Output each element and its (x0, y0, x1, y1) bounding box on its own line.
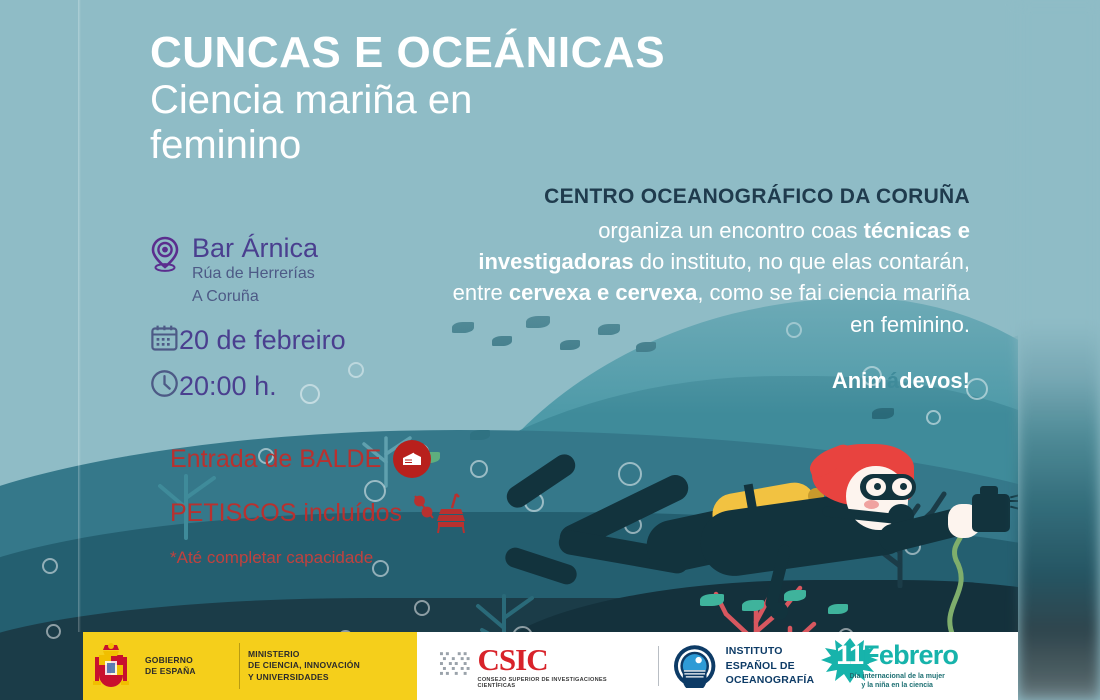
call-to-action: Animádevos! (440, 368, 970, 394)
venue-city: A Coruña (192, 287, 318, 307)
footer-logo-bar: GOBIERNO DE ESPAÑA MINISTERIO DE CIENCIA… (83, 632, 1018, 700)
free-entry-row: Entrada de BALDE (170, 440, 490, 478)
divider (658, 646, 659, 686)
background-blurred-edge (1018, 0, 1100, 700)
divider (239, 643, 240, 689)
ministry-line2: DE CIENCIA, INNOVACIÓN (248, 660, 398, 671)
venue-name: Bar Árnica (192, 234, 318, 262)
gobierno-label: GOBIERNO DE ESPAÑA (139, 655, 231, 677)
ieo-circular-logo-icon (673, 644, 716, 688)
gobierno-line1: GOBIERNO (145, 655, 231, 666)
institution-logos: CSIC CONSEJO SUPERIOR DE INVESTIGACIONES… (417, 632, 1018, 700)
ministry-line3: Y UNIVERSIDADES (248, 672, 398, 683)
gobierno-line2: DE ESPAÑA (145, 666, 231, 677)
ticket-icon (393, 440, 431, 478)
csic-wordmark: CSIC (478, 644, 645, 675)
description-part1: organiza un encontro coas (598, 218, 863, 243)
capacity-note: *Até completar capacidade (170, 548, 490, 568)
event-time: 20:00 h. (179, 371, 277, 402)
csic-logo: CSIC CONSEJO SUPERIOR DE INVESTIGACIONES… (478, 644, 645, 689)
11-febrero-logo: 11Febrero Día internacional de la mujer … (814, 642, 980, 691)
ieo-label: INSTITUTO ESPAÑOL DE OCEANOGRAFÍA (726, 644, 815, 689)
event-date: 20 de febreiro (179, 325, 346, 356)
ieo-line3: OCEANOGRAFÍA (726, 673, 815, 688)
ministry-label: MINISTERIO DE CIENCIA, INNOVACIÓN Y UNIV… (248, 649, 398, 683)
febrero-month: Febrero (863, 640, 958, 670)
cta-accent: á (887, 368, 899, 393)
febrero-subtitle-line1: Día internacional de la mujer (814, 672, 980, 681)
cta-suffix: devos! (899, 368, 970, 393)
location-pin-icon (150, 234, 192, 274)
description-bold2: cervexa e cervexa (509, 280, 697, 305)
ministry-line1: MINISTERIO (248, 649, 398, 660)
organizer-name: CENTRO OCEANOGRÁFICO DA CORUÑA (440, 182, 970, 212)
csic-tagline: CONSEJO SUPERIOR DE INVESTIGACIONES CIEN… (478, 677, 645, 689)
offer-block: Entrada de BALDE PETISCOS incluídos (170, 440, 490, 568)
snacks-label: PETISCOS incluídos (170, 499, 402, 528)
page-title: CUNCAS E OCEÁNICAS (150, 30, 790, 76)
snacks-row: PETISCOS incluídos (170, 492, 490, 534)
febrero-subtitle-line2: y la niña en la ciencia (814, 681, 980, 690)
poster-title-block: CUNCAS E OCEÁNICAS Ciencia mariña en fem… (150, 30, 790, 168)
csic-dot-grid-icon (439, 651, 473, 681)
febrero-subtitle: Día internacional de la mujer y la niña … (814, 672, 980, 691)
poster-canvas: CUNCAS E OCEÁNICAS Ciencia mariña en fem… (0, 0, 1100, 700)
cta-prefix: Anim (832, 368, 887, 393)
description-part3: , como se fai ciencia mariña en feminino… (697, 280, 970, 336)
venue-row: Bar Árnica Rúa de Herrerías A Coruña (150, 234, 450, 307)
calendar-icon (150, 323, 179, 357)
tapas-food-icon (412, 492, 470, 534)
page-subtitle-line1: Ciencia mariña en (150, 78, 790, 123)
spain-coat-of-arms-icon (83, 641, 139, 691)
venue-street: Rúa de Herrerías (192, 264, 318, 284)
febrero-wordmark: 11Febrero (814, 642, 980, 669)
free-entry-label: Entrada de BALDE (170, 445, 381, 474)
ieo-line2: ESPAÑOL DE (726, 659, 815, 674)
time-row: 20:00 h. (150, 369, 450, 403)
background-seam (78, 0, 81, 632)
ieo-line1: INSTITUTO (726, 644, 815, 659)
febrero-day: 11 (836, 640, 863, 670)
gobierno-de-espana-block: GOBIERNO DE ESPAÑA MINISTERIO DE CIENCIA… (83, 632, 417, 700)
event-details-block: Bar Árnica Rúa de Herrerías A Coruña (150, 234, 450, 403)
date-row: 20 de febreiro (150, 323, 450, 357)
page-subtitle-line2: feminino (150, 123, 790, 168)
clock-icon (150, 369, 179, 403)
description-block: CENTRO OCEANOGRÁFICO DA CORUÑA organiza … (440, 182, 970, 340)
